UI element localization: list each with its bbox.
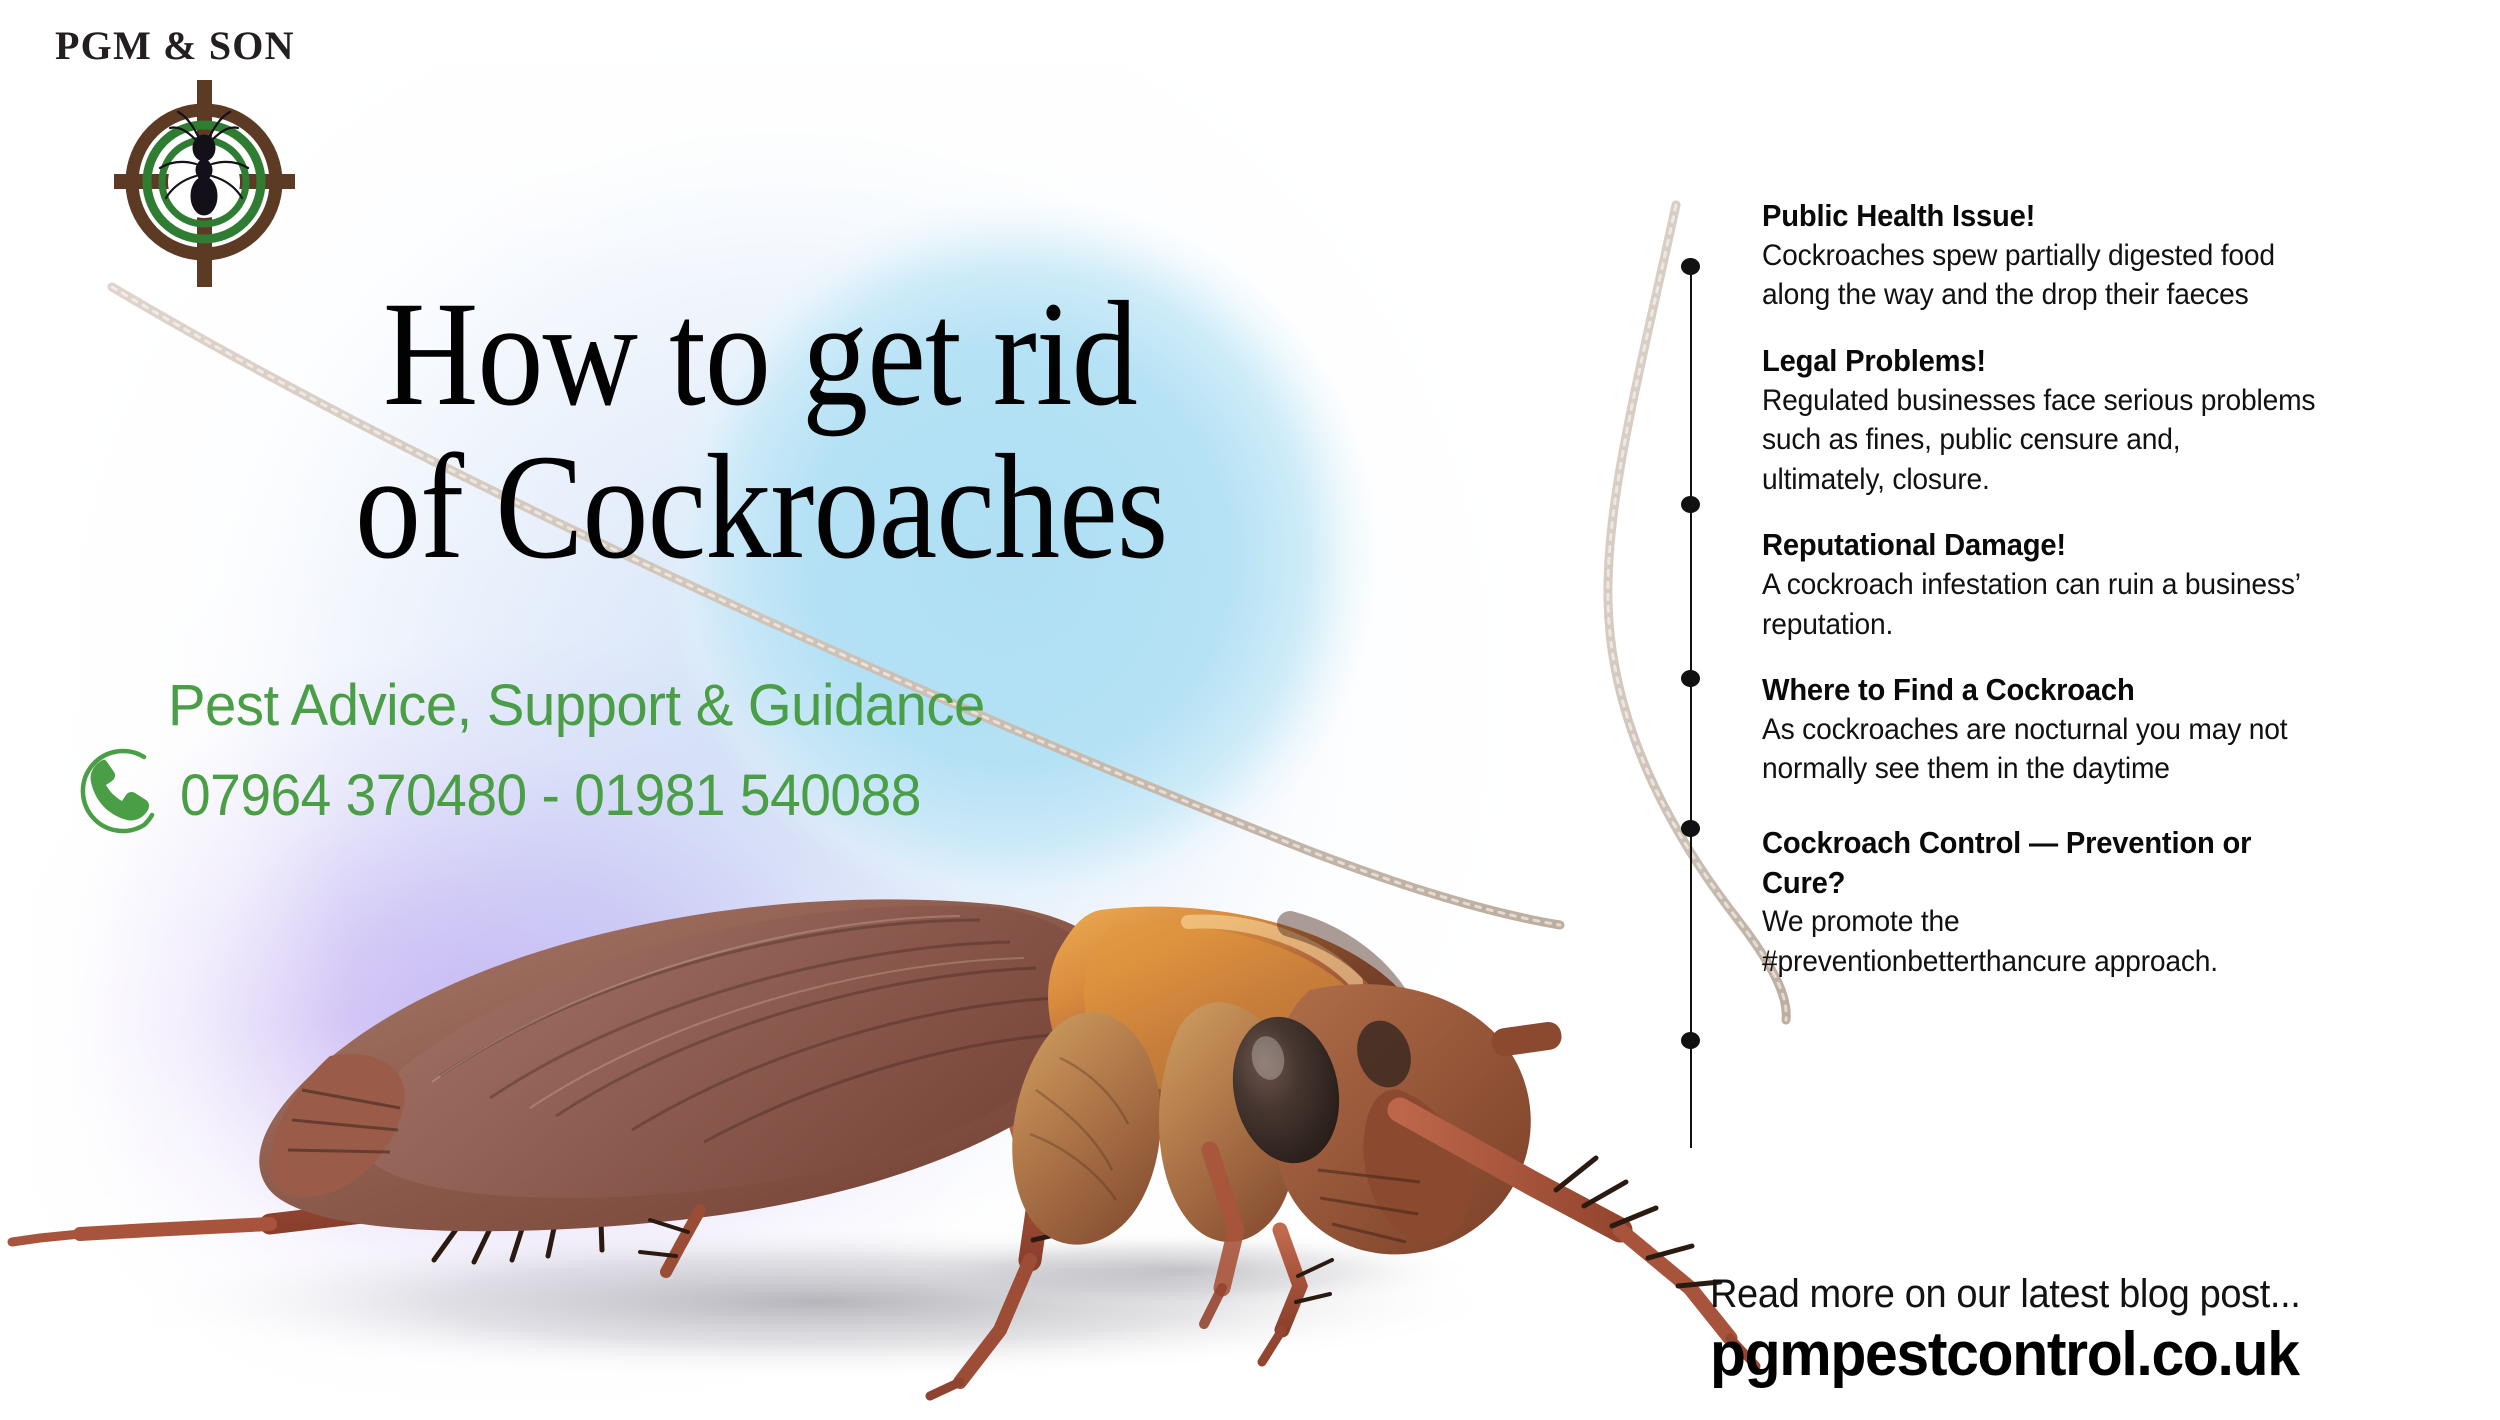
poster-canvas: PGM & SON xyxy=(0,0,2500,1420)
bullet-title: Legal Problems! xyxy=(1762,341,2439,381)
bullet-body: Regulated businesses face serious proble… xyxy=(1762,381,2439,500)
bullet-dot-3 xyxy=(1681,670,1700,687)
bullet-item-legal-problems: Legal Problems! Regulated businesses fac… xyxy=(1762,341,2482,499)
bullet-body-line: A cockroach infestation can ruin a busin… xyxy=(1762,565,2439,605)
phone-row[interactable]: 07964 370480 - 01981 540088 xyxy=(70,745,960,837)
bullet-title-line-1: Cockroach Control — Prevention or xyxy=(1762,823,2439,863)
bullet-title: Reputational Damage! xyxy=(1762,525,2439,565)
read-more-text: Read more on our latest blog post... xyxy=(1710,1272,2461,1317)
bullet-dot-1 xyxy=(1681,258,1700,275)
title-line-2: of Cockroaches xyxy=(355,431,1499,584)
bullet-dot-5 xyxy=(1681,1032,1700,1049)
brand-logo[interactable]: PGM & SON xyxy=(40,8,340,298)
bullet-body-line: along the way and the drop their faeces xyxy=(1762,275,2439,315)
bullet-dot-4 xyxy=(1681,820,1700,837)
phone-handset-icon xyxy=(70,745,162,837)
phone-numbers[interactable]: 07964 370480 - 01981 540088 xyxy=(180,762,921,829)
bullet-body-line: such as fines, public censure and, xyxy=(1762,420,2439,460)
bullet-title-line-2: Cure? xyxy=(1762,863,2439,903)
bullet-title: Where to Find a Cockroach xyxy=(1762,670,2439,710)
tagline: Pest Advice, Support & Guidance xyxy=(168,672,985,739)
bullet-body: Cockroaches spew partially digested food… xyxy=(1762,236,2439,315)
bullet-body-line: reputation. xyxy=(1762,605,2439,645)
bullet-body: We promote the #preventionbetterthancure… xyxy=(1762,902,2439,981)
bullet-body-line: ultimately, closure. xyxy=(1762,460,2439,500)
crosshair-ant-target-icon xyxy=(112,76,297,291)
bullet-body: A cockroach infestation can ruin a busin… xyxy=(1762,565,2439,644)
bullet-body-line: Cockroaches spew partially digested food xyxy=(1762,236,2439,276)
bullet-rail-line xyxy=(1690,258,1692,1148)
bullet-list: Public Health Issue! Cockroaches spew pa… xyxy=(1762,196,2482,1008)
bullet-item-reputational-damage: Reputational Damage! A cockroach infesta… xyxy=(1762,525,2482,644)
footer: Read more on our latest blog post... pgm… xyxy=(1710,1272,2500,1390)
website-url[interactable]: pgmpestcontrol.co.uk xyxy=(1710,1319,2461,1390)
bullet-body-line: As cockroaches are nocturnal you may not xyxy=(1762,710,2439,750)
bullet-body-line: We promote the xyxy=(1762,902,2439,942)
bullet-body: As cockroaches are nocturnal you may not… xyxy=(1762,710,2439,789)
bullet-body-line: Regulated businesses face serious proble… xyxy=(1762,381,2439,421)
bullet-item-public-health: Public Health Issue! Cockroaches spew pa… xyxy=(1762,196,2482,315)
page-title: How to get rid of Cockroaches xyxy=(355,278,1655,584)
bullet-item-cockroach-control: Cockroach Control — Prevention or Cure? … xyxy=(1762,823,2482,982)
bullet-title: Public Health Issue! xyxy=(1762,196,2439,236)
bullet-rail xyxy=(1681,250,1701,1150)
bullet-body-line: normally see them in the daytime xyxy=(1762,749,2439,789)
bullet-body-line: #preventionbetterthancure approach. xyxy=(1762,942,2439,982)
title-line-1: How to get rid xyxy=(383,278,1502,431)
brand-wordmark: PGM & SON xyxy=(55,22,295,69)
bullet-dot-2 xyxy=(1681,496,1700,513)
bullet-item-where-to-find: Where to Find a Cockroach As cockroaches… xyxy=(1762,670,2482,789)
